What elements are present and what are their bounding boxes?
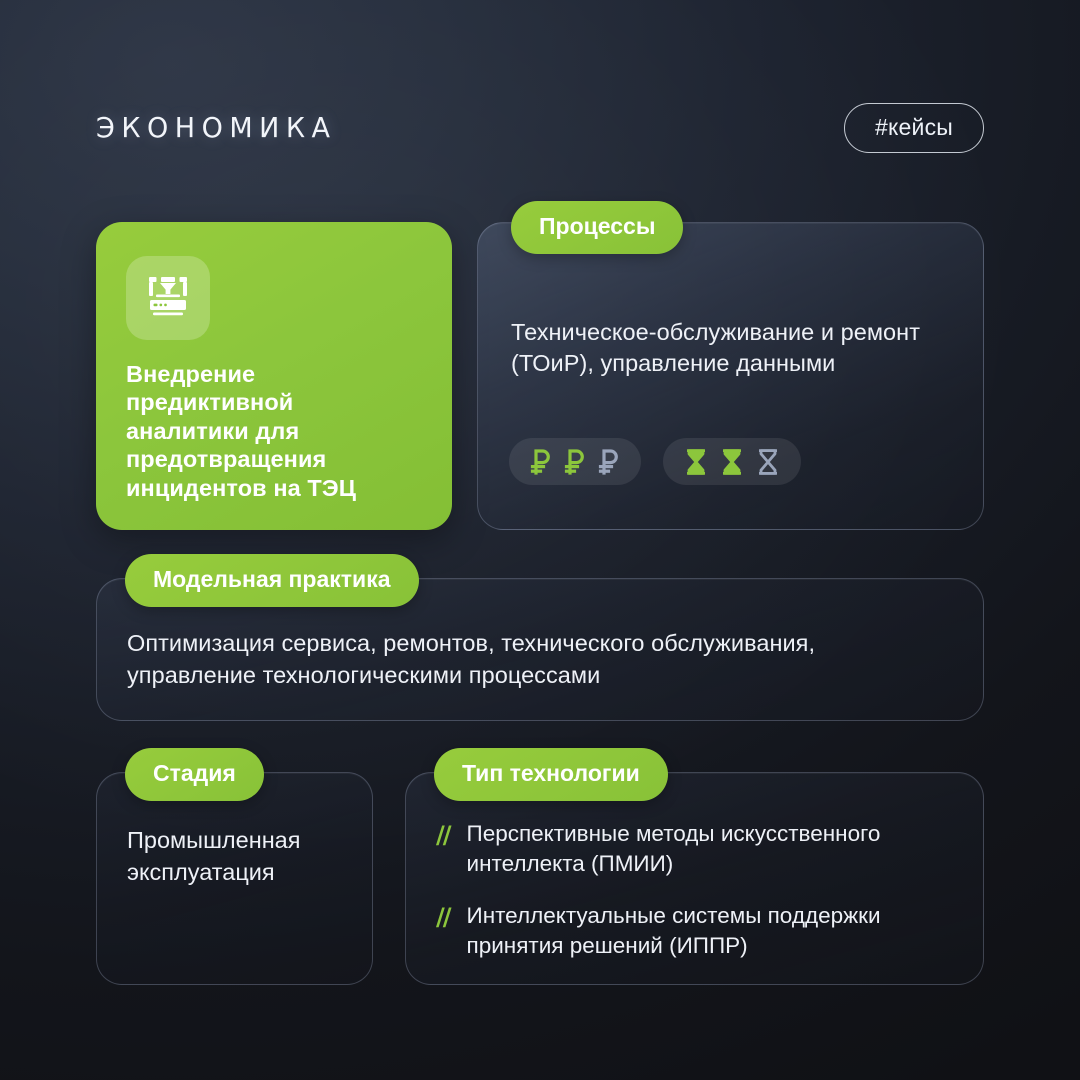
stage-card: Стадия Промышленная эксплуатация [96,772,373,985]
tech-type-card: Тип технологии // Перспективные методы и… [405,772,984,985]
processes-badge: Процессы [511,201,683,254]
stage-text: Промышленная эксплуатация [127,825,350,889]
ruble-icon [598,448,620,476]
model-practice-text: Оптимизация сервиса, ремонтов, техническ… [127,627,943,692]
list-item-label: Интеллектуальные системы поддержки приня… [467,901,959,961]
processes-text: Техническое-обслуживание и ремонт (ТОиР)… [511,317,953,380]
hero-icon-tile [126,256,210,340]
hero-card: Внедрение предиктивной аналитики для пре… [96,222,452,530]
cost-rating [509,438,641,485]
model-practice-card: Модельная практика Оптимизация сервиса, … [96,578,984,721]
slash-marker-icon: // [436,819,450,851]
list-item-label: Перспективные методы искусственного инте… [467,819,959,879]
model-practice-badge: Модельная практика [125,554,419,607]
tech-type-badge: Тип технологии [434,748,668,801]
hourglass-icon [756,448,780,476]
processes-card: Процессы Техническое-обслуживание и ремо… [477,222,984,530]
list-item: // Перспективные методы искусственного и… [436,819,959,879]
brand-logo: ЭКОНОМИКА [96,112,336,144]
stage-badge: Стадия [125,748,264,801]
industrial-machine-icon [144,272,192,325]
hero-title: Внедрение предиктивной аналитики для пре… [126,360,422,502]
hourglass-icon [720,448,744,476]
list-item: // Интеллектуальные системы поддержки пр… [436,901,959,961]
time-rating [663,438,801,485]
ruble-icon [564,448,586,476]
case-card-page: ЭКОНОМИКА #кейсы [0,0,1080,1080]
page-header: ЭКОНОМИКА #кейсы [96,100,984,156]
ratings-row [509,438,801,485]
hashtag-badge[interactable]: #кейсы [844,103,984,153]
hourglass-icon [684,448,708,476]
ruble-icon [530,448,552,476]
tech-type-list: // Перспективные методы искусственного и… [436,819,959,961]
slash-marker-icon: // [436,901,450,933]
